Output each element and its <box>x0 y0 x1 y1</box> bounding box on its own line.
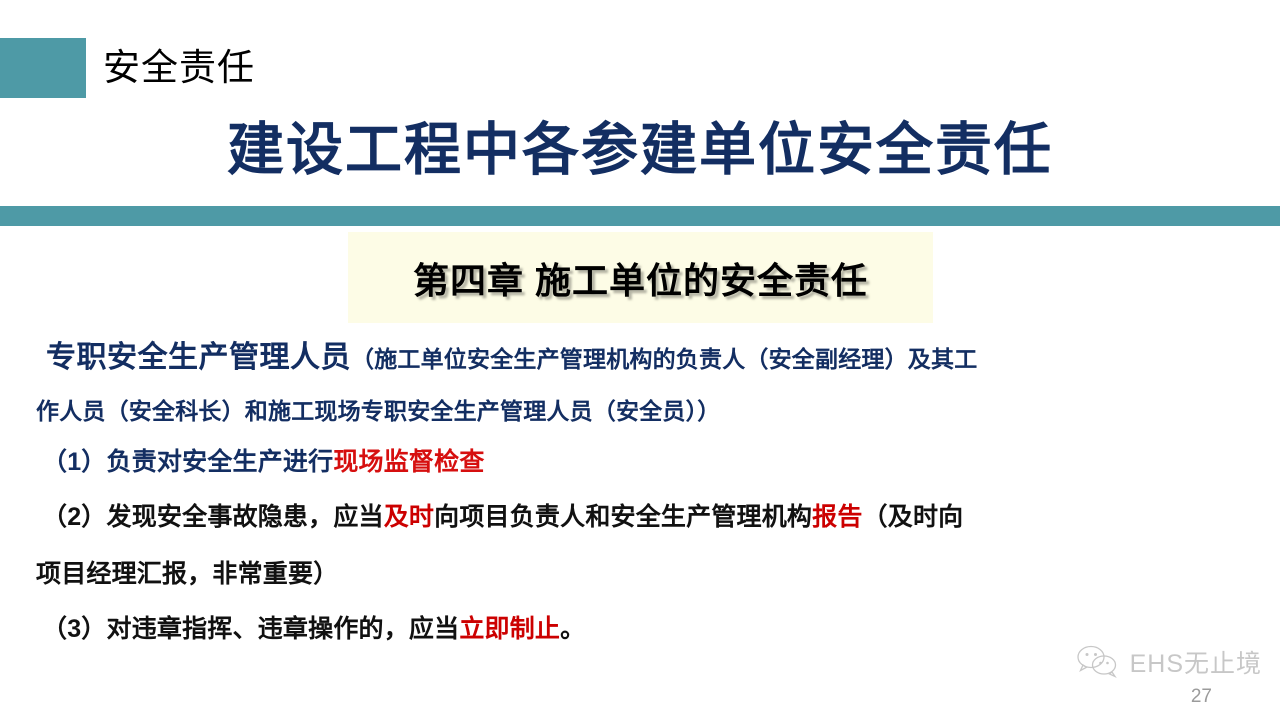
lead-paragraph-line-1: 专职安全生产管理人员（施工单位安全生产管理机构的负责人（安全副经理）及其工 <box>46 332 977 376</box>
lead-term: 专职安全生产管理人员 <box>46 341 351 374</box>
list-item-1: （1）负责对安全生产进行现场监督检查 <box>42 442 485 478</box>
list-item-1-text: 负责对安全生产进行 <box>107 448 334 476</box>
list-item-2-line-2: 项目经理汇报，非常重要） <box>36 554 338 590</box>
list-item-1-number: （1） <box>42 448 107 476</box>
chapter-title: 第四章 施工单位的安全责任 <box>348 232 933 323</box>
list-item-2-highlight-2: 报告 <box>812 503 862 531</box>
lead-paragraph-line-2: 作人员（安全科长）和施工现场专职安全生产管理人员（安全员）） <box>36 392 721 426</box>
list-item-3-text-after: 。 <box>560 615 585 643</box>
list-item-2-text-mid: 向项目负责人和安全生产管理机构 <box>434 503 812 531</box>
list-item-2-highlight-1: 及时 <box>384 503 434 531</box>
list-item-3: （3）对违章指挥、违章操作的，应当立即制止。 <box>42 609 585 645</box>
list-item-3-highlight: 立即制止 <box>459 615 560 643</box>
kicker-accent-block <box>0 38 86 98</box>
header-divider-bar <box>0 206 1280 226</box>
list-item-2-number: （2） <box>42 503 107 531</box>
list-item-2-text-before: 发现安全事故隐患，应当 <box>107 503 384 531</box>
lead-parenthetical: （施工单位安全生产管理机构的负责人（安全副经理）及其工 <box>351 346 977 372</box>
page-number: 27 <box>1191 686 1212 708</box>
watermark-label: EHS无止境 <box>1130 644 1262 680</box>
list-item-2-text-after: （及时向 <box>863 503 964 531</box>
slide-canvas: 安全责任 建设工程中各参建单位安全责任 第四章 施工单位的安全责任 专职安全生产… <box>0 0 1280 720</box>
kicker-label: 安全责任 <box>103 38 603 98</box>
wechat-icon <box>1076 645 1122 679</box>
list-item-3-text-before: 对违章指挥、违章操作的，应当 <box>107 615 460 643</box>
list-item-2-line-1: （2）发现安全事故隐患，应当及时向项目负责人和安全生产管理机构报告（及时向 <box>42 497 963 533</box>
list-item-3-number: （3） <box>42 615 107 643</box>
list-item-1-highlight: 现场监督检查 <box>333 448 484 476</box>
page-title: 建设工程中各参建单位安全责任 <box>0 104 1280 186</box>
watermark: EHS无止境 <box>1076 644 1262 680</box>
